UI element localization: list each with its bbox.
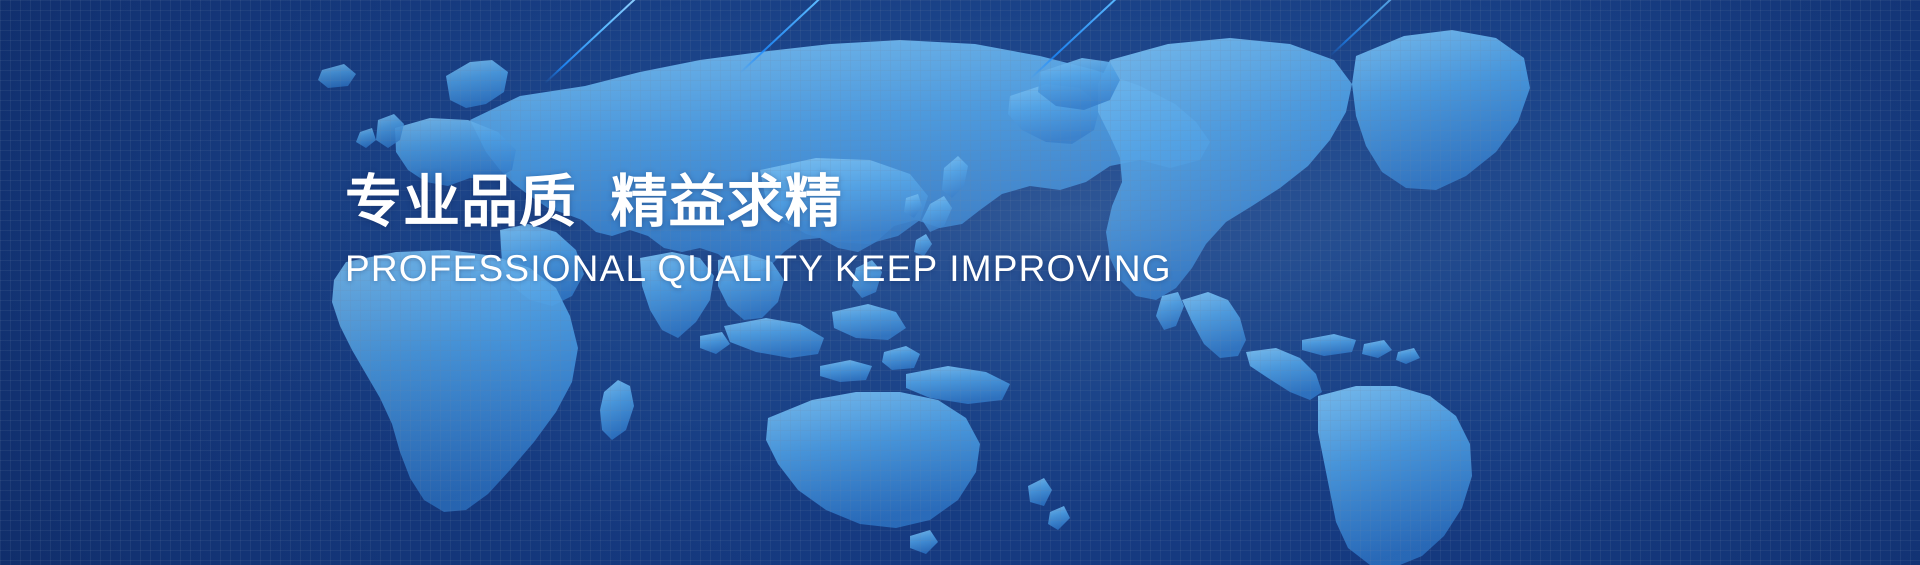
headline-chinese: 专业品质 精益求精: [345, 172, 1245, 234]
subheadline-english: PROFESSIONAL QUALITY KEEP IMPROVING: [345, 248, 1245, 289]
slogan-block: 专业品质 精益求精 PROFESSIONAL QUALITY KEEP IMPR…: [345, 172, 1245, 289]
hero-banner: 专业品质 精益求精 PROFESSIONAL QUALITY KEEP IMPR…: [0, 0, 1920, 565]
